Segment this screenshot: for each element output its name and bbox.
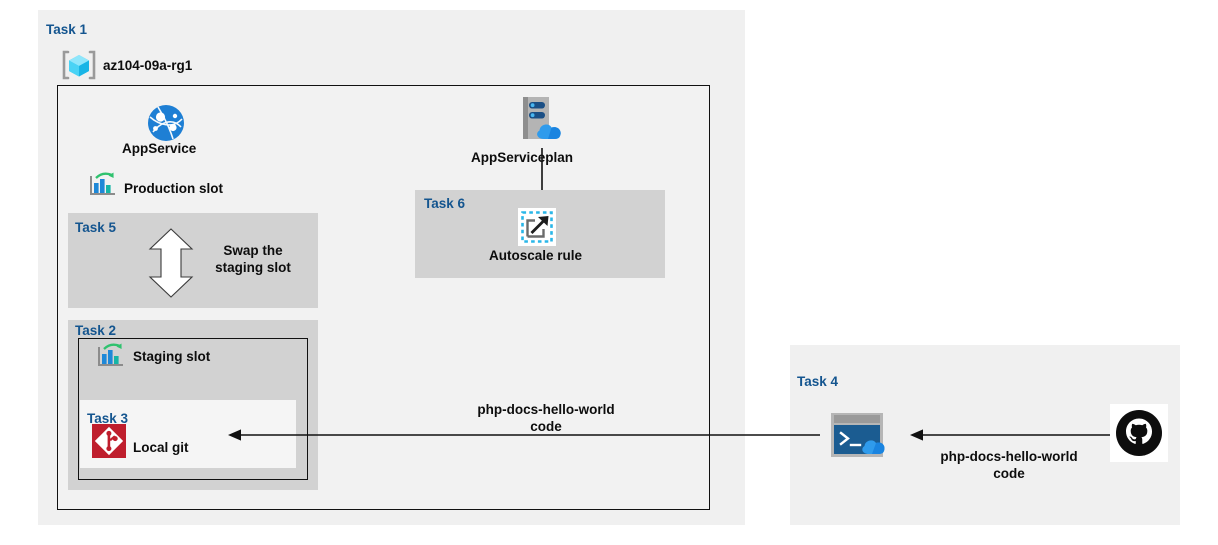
deployment-slot-icon xyxy=(97,343,125,369)
git-icon xyxy=(92,424,126,458)
code-label-middle: php-docs-hello-world code xyxy=(462,402,630,436)
task6-label: Task 6 xyxy=(424,196,465,211)
autoscale-rule-label: Autoscale rule xyxy=(489,248,582,263)
task1-label: Task 1 xyxy=(46,22,87,37)
resource-group-name: az104-09a-rg1 xyxy=(103,58,192,73)
cloud-shell-icon xyxy=(831,413,901,457)
app-service-plan-label: AppServiceplan xyxy=(471,150,573,165)
swap-action-label: Swap the staging slot xyxy=(203,243,303,277)
app-service-label: AppService xyxy=(122,141,196,156)
autoscale-icon xyxy=(518,208,556,246)
production-slot-label: Production slot xyxy=(124,181,223,196)
app-service-icon xyxy=(146,103,186,143)
local-git-label: Local git xyxy=(133,440,189,455)
diagram-canvas: Task 1 az104-09a-rg1 AppService xyxy=(0,0,1218,545)
code-label-right: php-docs-hello-world code xyxy=(923,449,1095,483)
task4-label: Task 4 xyxy=(797,374,838,389)
github-icon xyxy=(1110,404,1168,462)
app-service-plan-icon xyxy=(514,95,568,145)
resource-group-icon xyxy=(62,48,96,82)
deployment-slot-icon xyxy=(89,172,117,198)
task2-label: Task 2 xyxy=(75,323,116,338)
task5-label: Task 5 xyxy=(75,220,116,235)
staging-slot-label: Staging slot xyxy=(133,349,210,364)
connector-github-to-cloudshell xyxy=(910,424,1110,446)
swap-double-arrow-icon xyxy=(148,228,194,298)
